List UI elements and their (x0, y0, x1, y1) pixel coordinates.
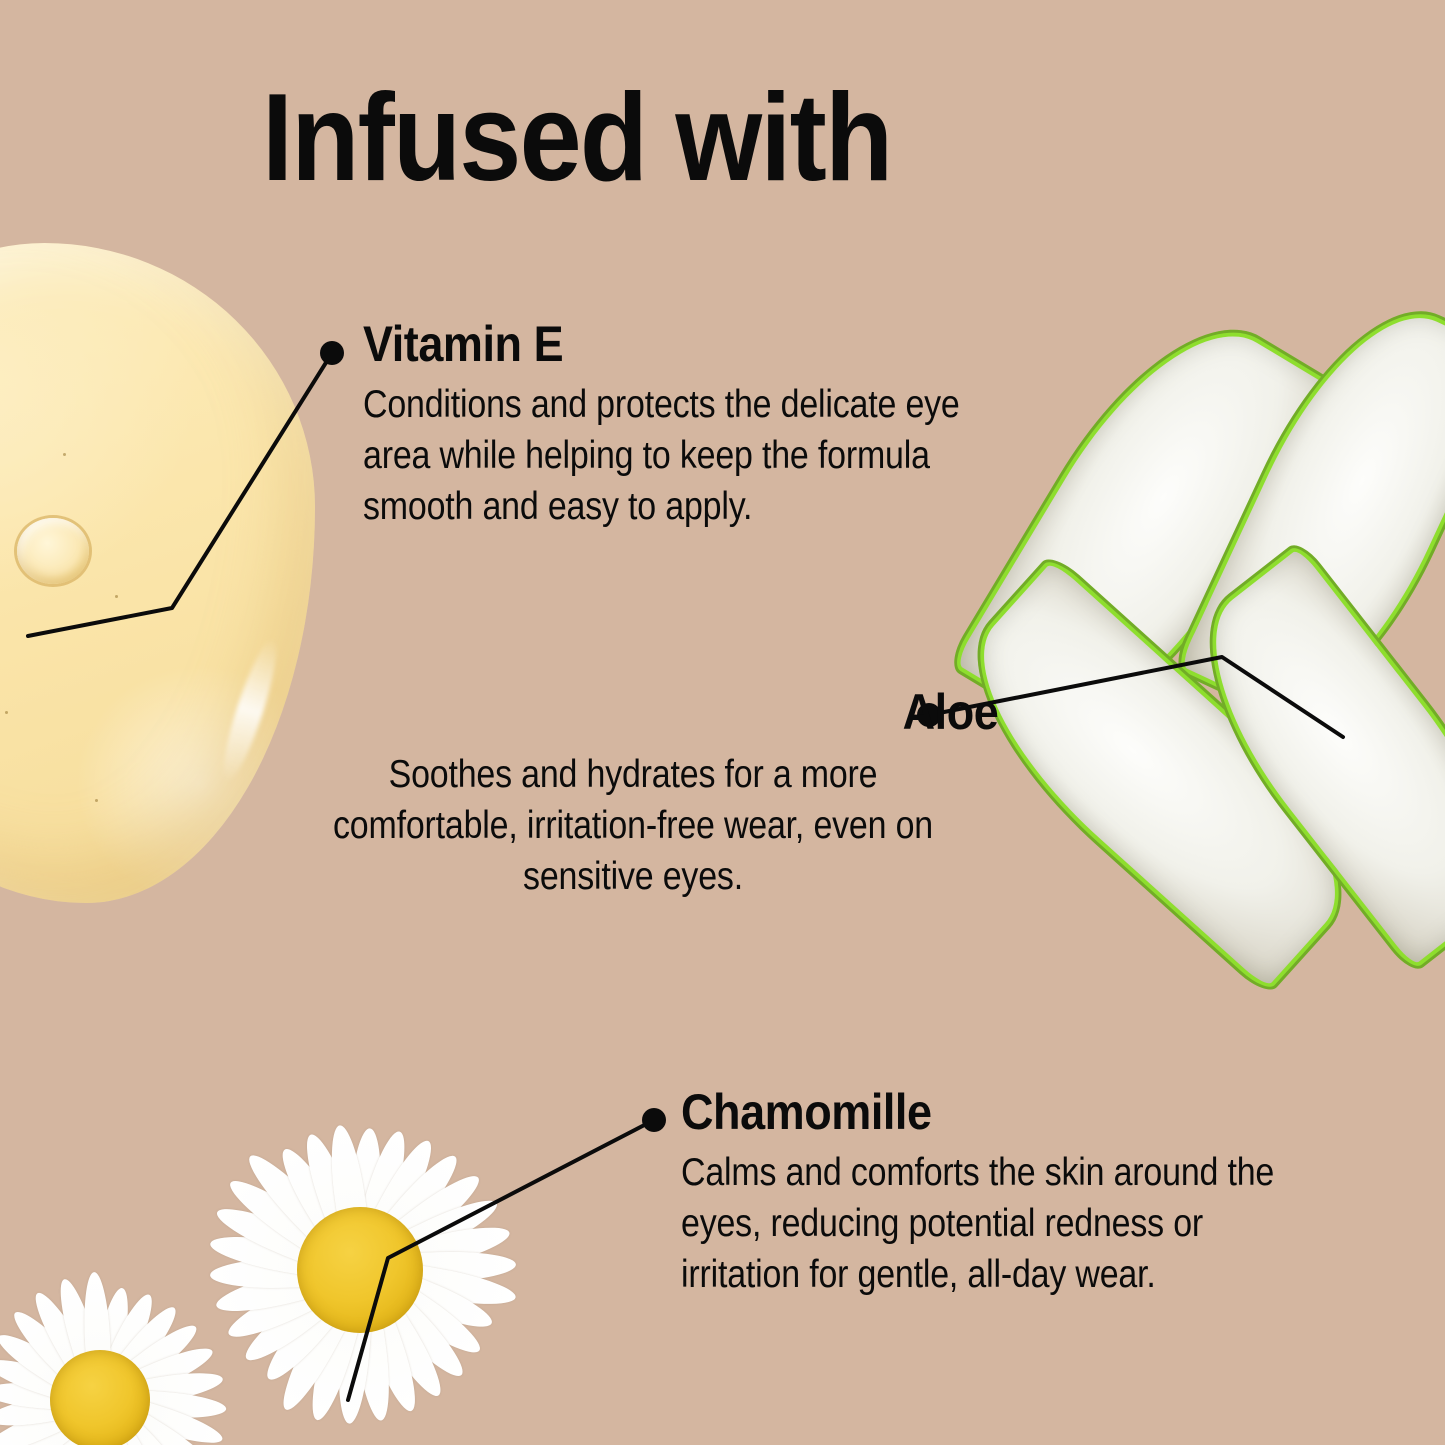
infused-with-graphic: Infused with Vitamin E Conditions and pr… (0, 0, 1445, 1445)
ingredient-name-vitamin-e: Vitamin E (363, 318, 1047, 371)
ingredient-description-chamomille: Calms and comforts the skin around the e… (681, 1147, 1290, 1301)
ingredient-block-vitamin-e: Vitamin E Conditions and protects the de… (363, 318, 1123, 533)
ingredient-block-chamomille: Chamomille Calms and comforts the skin a… (681, 1086, 1381, 1301)
callout-dot-vitamin-e (320, 341, 344, 365)
leader-line-vitamin-e (28, 353, 332, 636)
ingredient-description-vitamin-e: Conditions and protects the delicate eye… (363, 379, 1024, 533)
ingredient-description-aloe: Soothes and hydrates for a more comforta… (315, 749, 950, 903)
page-title: Infused with (262, 76, 891, 200)
ingredient-block-aloe: Aloe Soothes and hydrates for a more com… (268, 686, 998, 903)
ingredient-name-chamomille: Chamomille (681, 1086, 1311, 1139)
ingredient-name-aloe: Aloe (902, 686, 998, 739)
leader-line-chamomille (348, 1120, 654, 1400)
callout-dot-chamomille (642, 1108, 666, 1132)
